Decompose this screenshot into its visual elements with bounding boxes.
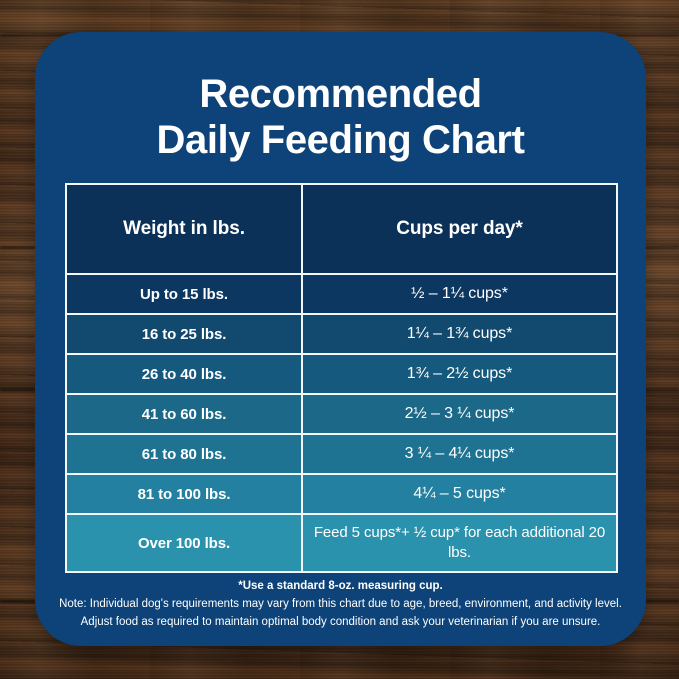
footnote-measuring-cup: *Use a standard 8-oz. measuring cup. <box>59 578 622 596</box>
table-row: 16 to 25 lbs. 1¼ – 1¾ cups* <box>66 314 617 354</box>
cell-weight: Up to 15 lbs. <box>66 274 302 314</box>
cell-weight: Over 100 lbs. <box>66 514 302 572</box>
column-header-weight: Weight in lbs. <box>66 184 302 274</box>
cell-cups: 4¼ – 5 cups* <box>302 474 617 514</box>
footnote-adjust: Adjust food as required to maintain opti… <box>59 614 622 632</box>
feeding-table-body: Up to 15 lbs. ½ – 1¼ cups* 16 to 25 lbs.… <box>66 274 617 572</box>
cell-cups: 1¾ – 2½ cups* <box>302 354 617 394</box>
page-title: Recommended Daily Feeding Chart <box>35 32 646 163</box>
cell-weight: 41 to 60 lbs. <box>66 394 302 434</box>
feeding-chart-card: Recommended Daily Feeding Chart Weight i… <box>35 32 646 646</box>
cell-cups: 2½ – 3 ¼ cups* <box>302 394 617 434</box>
feeding-table-header: Weight in lbs. Cups per day* <box>66 184 617 274</box>
cell-cups: Feed 5 cups*+ ½ cup* for each additional… <box>302 514 617 572</box>
cell-weight: 26 to 40 lbs. <box>66 354 302 394</box>
cell-weight: 81 to 100 lbs. <box>66 474 302 514</box>
table-row: Over 100 lbs. Feed 5 cups*+ ½ cup* for e… <box>66 514 617 572</box>
table-header-row: Weight in lbs. Cups per day* <box>66 184 617 274</box>
cell-cups: 1¼ – 1¾ cups* <box>302 314 617 354</box>
cell-weight: 16 to 25 lbs. <box>66 314 302 354</box>
cell-cups: 3 ¼ – 4¼ cups* <box>302 434 617 474</box>
table-row: 61 to 80 lbs. 3 ¼ – 4¼ cups* <box>66 434 617 474</box>
table-row: 41 to 60 lbs. 2½ – 3 ¼ cups* <box>66 394 617 434</box>
column-header-cups: Cups per day* <box>302 184 617 274</box>
cell-weight: 61 to 80 lbs. <box>66 434 302 474</box>
feeding-table: Weight in lbs. Cups per day* Up to 15 lb… <box>65 183 618 573</box>
page-title-line-2: Daily Feeding Chart <box>75 118 606 164</box>
table-row: 26 to 40 lbs. 1¾ – 2½ cups* <box>66 354 617 394</box>
footnotes: *Use a standard 8-oz. measuring cup. Not… <box>59 578 622 631</box>
page-title-line-1: Recommended <box>75 72 606 118</box>
table-row: Up to 15 lbs. ½ – 1¼ cups* <box>66 274 617 314</box>
table-row: 81 to 100 lbs. 4¼ – 5 cups* <box>66 474 617 514</box>
footnote-note: Note: Individual dog's requirements may … <box>59 596 622 614</box>
cell-cups: ½ – 1¼ cups* <box>302 274 617 314</box>
